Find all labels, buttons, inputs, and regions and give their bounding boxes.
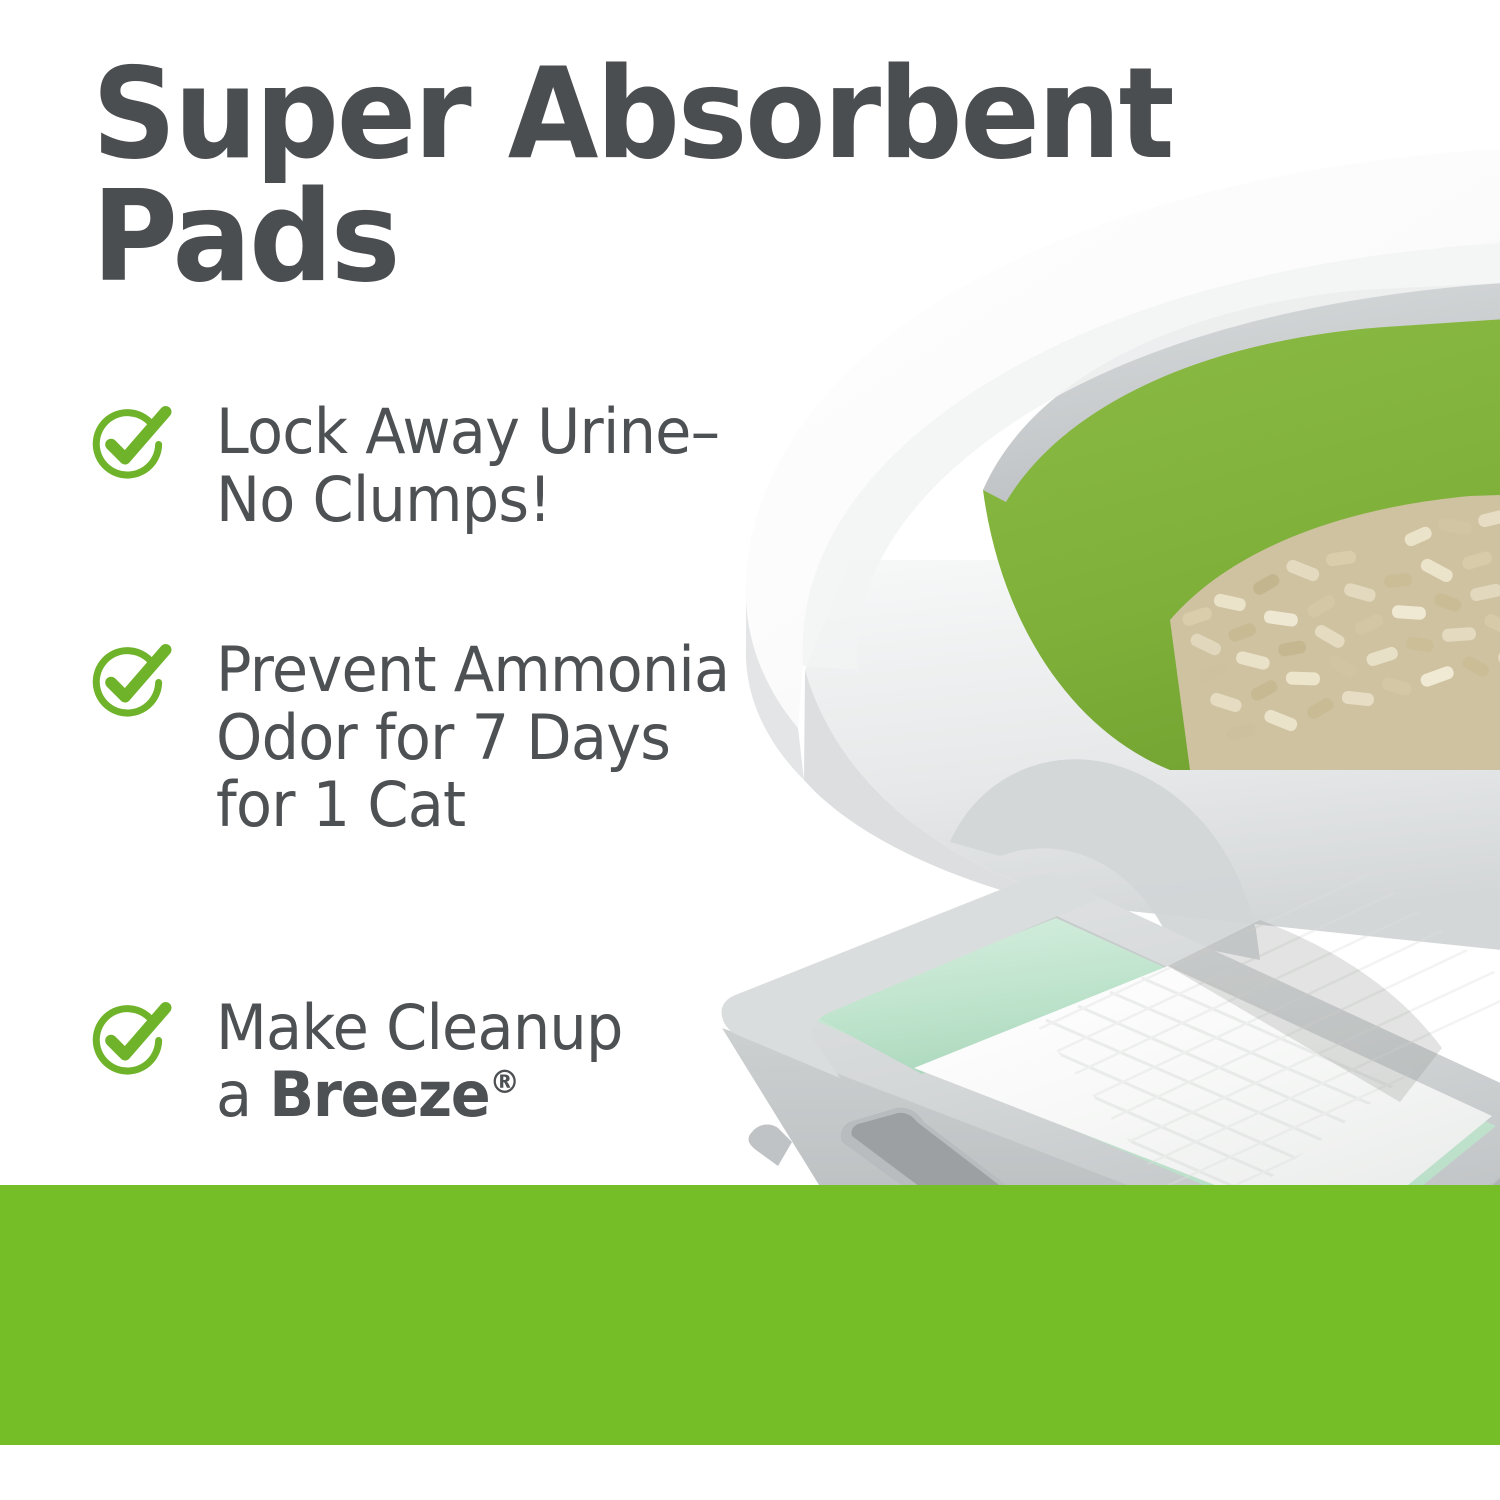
list-item: Prevent Ammonia Odor for 7 Days for 1 Ca… (88, 636, 918, 839)
check-circle-icon (90, 642, 168, 720)
litter-box-interior-green-floor (960, 280, 1500, 800)
check-circle-icon (90, 404, 168, 482)
list-item-label: Lock Away Urine– No Clumps! (216, 398, 883, 533)
page-title: Super Absorbent Pads (92, 52, 1320, 299)
feature-list: Lock Away Urine– No Clumps! Prevent Ammo… (88, 398, 918, 1129)
check-circle-icon (90, 1000, 168, 1078)
green-accent-band (0, 1185, 1500, 1445)
litter-pellets (1170, 494, 1500, 780)
registered-mark-icon: ® (489, 1063, 520, 1101)
list-item-label: Make Cleanup a Breeze® (216, 994, 883, 1129)
list-item: Lock Away Urine– No Clumps! (88, 398, 918, 533)
list-item: Make Cleanup a Breeze® (88, 994, 918, 1129)
brand-name: Breeze (269, 1058, 489, 1131)
list-item-label: Prevent Ammonia Odor for 7 Days for 1 Ca… (216, 636, 883, 839)
product-infographic: Super Absorbent Pads (0, 0, 1500, 1500)
